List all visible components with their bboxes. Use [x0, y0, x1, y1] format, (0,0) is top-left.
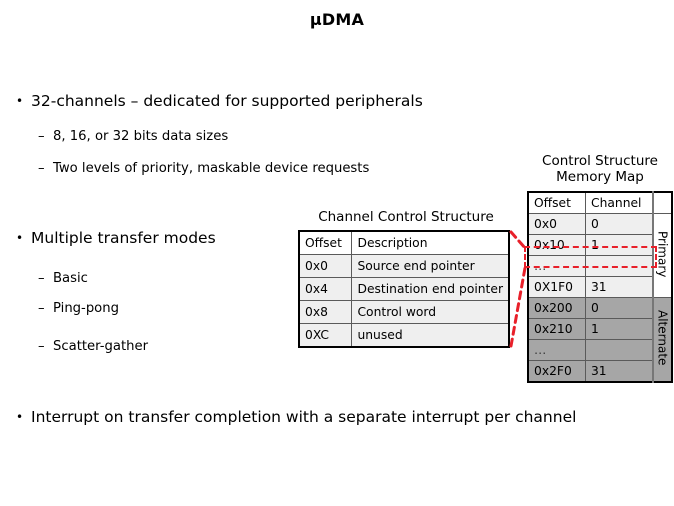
cell-description: unused — [352, 324, 509, 348]
cell-offset: 0x2F0 — [528, 361, 585, 383]
table-row: 0x4 Destination end pointer — [299, 278, 509, 301]
dash-marker-icon: – — [38, 130, 53, 145]
cell-offset: 0x0 — [528, 214, 585, 235]
channel-control-structure-caption: Channel Control Structure — [300, 210, 512, 226]
cell-offset: 0XC — [299, 324, 352, 348]
cell-offset-ellipsis: … — [528, 256, 585, 277]
table-row: 0XC unused — [299, 324, 509, 348]
column-header-offset: Offset — [528, 192, 585, 214]
cell-description: Source end pointer — [352, 255, 509, 278]
cell-channel: 1 — [585, 319, 653, 340]
table-row: 0x210 1 — [528, 319, 672, 340]
dash-marker-icon: – — [38, 272, 53, 287]
table-row: … — [528, 256, 672, 277]
sub-bullet-scatter-gather: – Scatter-gather — [38, 340, 148, 355]
dash-marker-icon: – — [38, 340, 53, 355]
cell-offset: 0x200 — [528, 298, 585, 319]
dash-marker-icon: – — [38, 162, 53, 177]
cell-offset: 0X1F0 — [528, 277, 585, 298]
sub-bullet-data-sizes: – 8, 16, or 32 bits data sizes — [38, 130, 228, 145]
table-row: 0x8 Control word — [299, 301, 509, 324]
table-header-row: Offset Description — [299, 231, 509, 255]
connector-line-top — [511, 232, 525, 248]
column-header-channel: Channel — [585, 192, 653, 214]
column-header-offset: Offset — [299, 231, 352, 255]
memory-map-caption: Control Structure Memory Map — [527, 154, 673, 186]
page-title: µDMA — [0, 10, 674, 29]
table-header-row: Offset Channel — [528, 192, 672, 214]
sub-bullet-text: Ping-pong — [53, 302, 119, 317]
bullet-marker-icon: • — [16, 409, 31, 425]
bullet-transfer-modes: • Multiple transfer modes — [16, 230, 216, 247]
cell-offset: 0x10 — [528, 235, 585, 256]
cell-channel: 31 — [585, 277, 653, 298]
sub-bullet-basic: – Basic — [38, 272, 88, 287]
table-row: 0X1F0 31 — [528, 277, 672, 298]
section-label-alternate: Alternate — [653, 298, 672, 383]
section-label-spacer — [653, 192, 672, 214]
cell-description: Destination end pointer — [352, 278, 509, 301]
table-row: 0x0 0 Primary — [528, 214, 672, 235]
sub-bullet-text: Two levels of priority, maskable device … — [53, 162, 369, 177]
sub-bullet-text: 8, 16, or 32 bits data sizes — [53, 130, 228, 145]
section-label-primary: Primary — [653, 214, 672, 298]
table-row: … — [528, 340, 672, 361]
channel-control-structure-table: Offset Description 0x0 Source end pointe… — [298, 230, 510, 348]
cell-offset: 0x0 — [299, 255, 352, 278]
memory-map-table: Offset Channel 0x0 0 Primary 0x10 1 … 0X… — [527, 191, 673, 383]
cell-channel: 31 — [585, 361, 653, 383]
cell-channel — [585, 340, 653, 361]
cell-channel: 0 — [585, 214, 653, 235]
section-label-primary-text: Primary — [657, 231, 669, 277]
bullet-interrupt-completion: • Interrupt on transfer completion with … — [16, 409, 576, 426]
cell-offset: 0x4 — [299, 278, 352, 301]
table-row: 0x0 Source end pointer — [299, 255, 509, 278]
cell-offset-ellipsis: … — [528, 340, 585, 361]
table-row: 0x10 1 — [528, 235, 672, 256]
memory-map-caption-line1: Control Structure — [527, 154, 673, 170]
sub-bullet-text: Scatter-gather — [53, 340, 148, 355]
column-header-description: Description — [352, 231, 509, 255]
table-row: 0x200 0 Alternate — [528, 298, 672, 319]
memory-map-caption-line2: Memory Map — [527, 170, 673, 186]
bullet-text: Multiple transfer modes — [31, 230, 216, 247]
cell-offset: 0x8 — [299, 301, 352, 324]
cell-description: Control word — [352, 301, 509, 324]
bullet-text: 32-channels – dedicated for supported pe… — [31, 93, 423, 110]
cell-channel: 0 — [585, 298, 653, 319]
bullet-32-channels: • 32-channels – dedicated for supported … — [16, 93, 423, 110]
cell-channel — [585, 256, 653, 277]
bullet-marker-icon: • — [16, 93, 31, 109]
sub-bullet-text: Basic — [53, 272, 88, 287]
sub-bullet-priority: – Two levels of priority, maskable devic… — [38, 162, 369, 177]
cell-offset: 0x210 — [528, 319, 585, 340]
connector-line-bottom — [511, 268, 525, 346]
bullet-text: Interrupt on transfer completion with a … — [31, 409, 576, 426]
section-label-alternate-text: Alternate — [657, 310, 669, 365]
cell-channel: 1 — [585, 235, 653, 256]
bullet-marker-icon: • — [16, 230, 31, 246]
sub-bullet-ping-pong: – Ping-pong — [38, 302, 119, 317]
table-row: 0x2F0 31 — [528, 361, 672, 383]
dash-marker-icon: – — [38, 302, 53, 317]
